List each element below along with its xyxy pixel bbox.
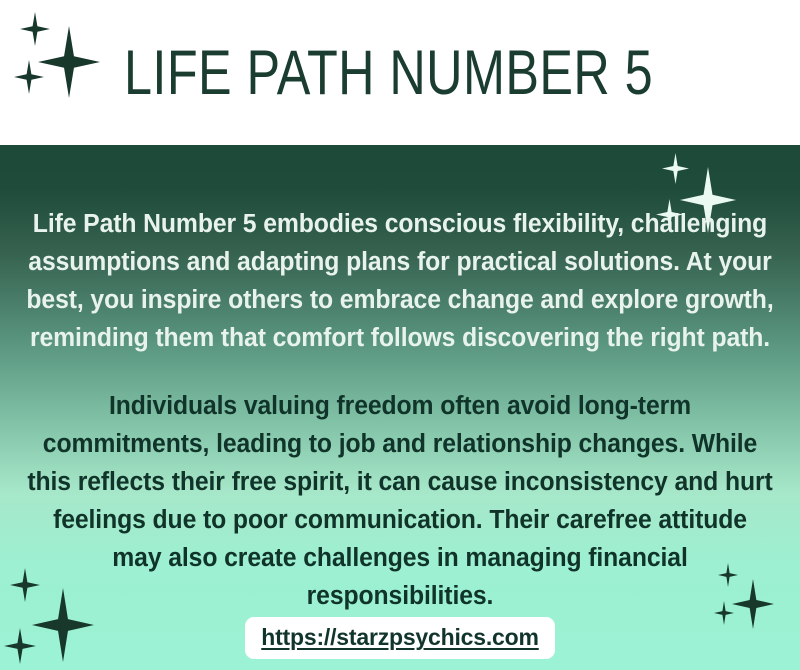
poster-canvas: LIFE PATH NUMBER 5 Life Path Number 5 em… bbox=[0, 0, 800, 670]
paragraph-strengths: Life Path Number 5 embodies conscious fl… bbox=[26, 205, 775, 357]
sparkle-star-icon bbox=[38, 26, 100, 98]
sparkle-star-icon bbox=[662, 153, 689, 184]
content-panel: Life Path Number 5 embodies conscious fl… bbox=[0, 145, 800, 670]
sparkle-star-icon bbox=[14, 60, 44, 94]
sparkle-star-icon bbox=[20, 12, 50, 46]
url-pill[interactable]: https://starzpsychics.com bbox=[245, 617, 554, 659]
header-sparkle-cluster bbox=[12, 8, 122, 108]
page-title: LIFE PATH NUMBER 5 bbox=[124, 38, 604, 108]
footer-url-area: https://starzpsychics.com bbox=[0, 617, 800, 659]
header-band: LIFE PATH NUMBER 5 bbox=[0, 0, 800, 145]
paragraph-challenges: Individuals valuing freedom often avoid … bbox=[26, 387, 775, 615]
website-url-link[interactable]: https://starzpsychics.com bbox=[261, 624, 538, 650]
